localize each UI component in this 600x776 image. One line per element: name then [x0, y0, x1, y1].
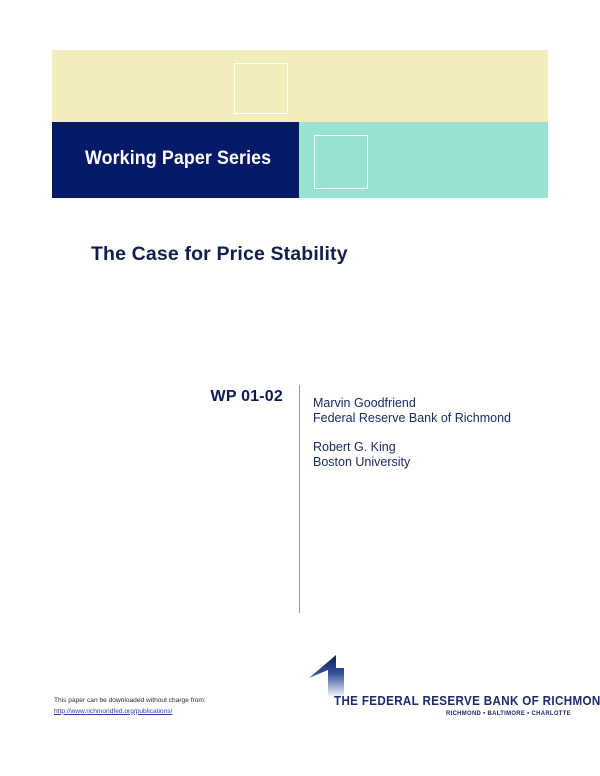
- author-name: Marvin Goodfriend: [313, 396, 511, 411]
- masthead-banner: Working Paper Series: [52, 50, 548, 198]
- author-entry: Marvin Goodfriend Federal Reserve Bank o…: [313, 396, 511, 426]
- working-paper-number: WP 01-02: [128, 388, 283, 406]
- series-label: Working Paper Series: [85, 148, 271, 170]
- fed-logo: THE FEDERAL RESERVE BANK OF RICHMOND RIC…: [306, 652, 546, 724]
- download-note-text: This paper can be downloaded without cha…: [54, 697, 206, 704]
- fed-cities-line: RICHMOND ▪ BALTIMORE ▪ CHARLOTTE: [446, 710, 571, 717]
- decorative-square-top: [234, 63, 288, 114]
- author-affiliation: Boston University: [313, 455, 511, 470]
- fed-wordmark: THE FEDERAL RESERVE BANK OF RICHMOND: [334, 693, 600, 708]
- author-block: Marvin Goodfriend Federal Reserve Bank o…: [313, 396, 511, 470]
- author-name: Robert G. King: [313, 440, 511, 455]
- download-note: This paper can be downloaded without cha…: [54, 696, 206, 717]
- page-title: The Case for Price Stability: [91, 243, 348, 266]
- decorative-square-bottom: [314, 135, 368, 189]
- document-page: Working Paper Series The Case for Price …: [0, 0, 600, 776]
- author-affiliation: Federal Reserve Bank of Richmond: [313, 411, 511, 426]
- author-divider: [299, 385, 300, 613]
- masthead-yellow-band: [52, 50, 548, 122]
- download-url-link[interactable]: http://www.richmondfed.org/publications/: [54, 707, 206, 718]
- author-entry: Robert G. King Boston University: [313, 440, 511, 470]
